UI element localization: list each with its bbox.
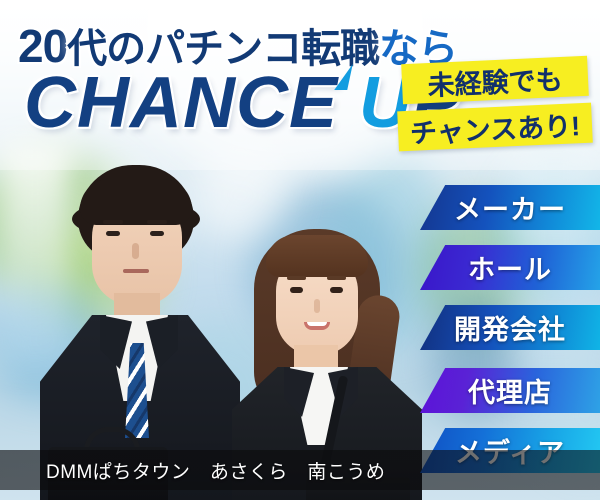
woman-teeth bbox=[307, 322, 327, 326]
category-button-hall[interactable]: ホール bbox=[420, 245, 600, 290]
chance-word: CHANCE bbox=[24, 63, 359, 143]
caption-bar: DMMぱちタウン あさくら 南こうめ bbox=[0, 450, 600, 490]
man-eye-left bbox=[106, 231, 120, 236]
woman-fringe bbox=[266, 235, 368, 277]
headline-line-2: CHANCE UP bbox=[24, 62, 461, 144]
man-eyebrow-left bbox=[103, 220, 123, 224]
category-button-developer[interactable]: 開発会社 bbox=[420, 305, 600, 350]
category-button-maker[interactable]: メーカー bbox=[420, 185, 600, 230]
man-eyebrow-right bbox=[147, 220, 167, 224]
badge-no-experience: 未経験でも bbox=[401, 56, 589, 104]
caption-text: DMMぱちタウン あさくら 南こうめ bbox=[46, 457, 385, 484]
woman-nose bbox=[314, 299, 320, 313]
man-nose bbox=[132, 243, 139, 259]
woman-eyebrow-left bbox=[287, 276, 306, 280]
man-eye-right bbox=[150, 231, 164, 236]
category-button-agency[interactable]: 代理店 bbox=[420, 368, 600, 413]
woman-eye-right bbox=[330, 287, 343, 293]
man-fringe bbox=[80, 179, 192, 225]
woman-eye-left bbox=[290, 287, 303, 293]
woman-eyebrow-right bbox=[327, 276, 346, 280]
man-mouth bbox=[123, 269, 149, 273]
banner-advertisement: 20代のパチンコ転職なら CHANCE UP 未経験でも チャンスあり! メーカ… bbox=[0, 0, 600, 500]
